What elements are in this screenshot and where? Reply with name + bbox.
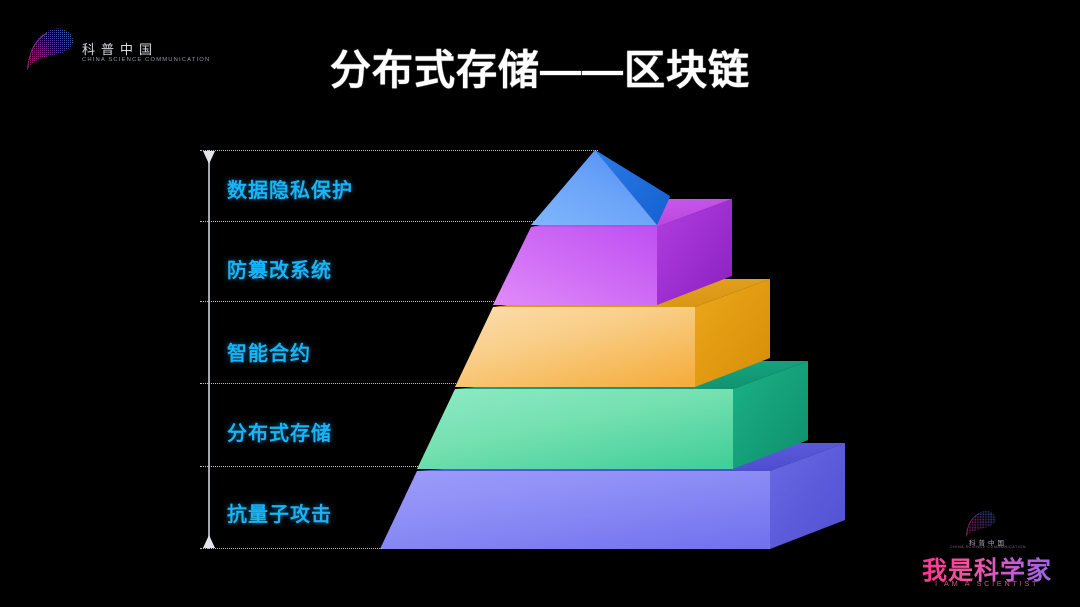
tick-line-0 bbox=[200, 150, 598, 151]
kepu-china-wing-icon bbox=[964, 511, 998, 537]
scale-arrow-2 bbox=[203, 288, 216, 314]
tick-line-2 bbox=[200, 301, 496, 302]
tick-line-3 bbox=[200, 383, 458, 384]
tick-line-1 bbox=[200, 221, 536, 222]
scale-arrow-4 bbox=[203, 453, 216, 479]
tier-label-2: 防篡改系统 bbox=[227, 254, 332, 283]
scale-arrow-1 bbox=[203, 208, 216, 234]
tick-line-5 bbox=[200, 548, 382, 549]
tier-label-3: 智能合约 bbox=[227, 337, 311, 366]
scale-arrow-bottom bbox=[203, 535, 215, 548]
tier-label-1: 数据隐私保护 bbox=[227, 174, 353, 203]
tier-label-5: 抗量子攻击 bbox=[227, 498, 332, 527]
slide-canvas: 科普中国 CHINA SCIENCE COMMUNICATION 分布式存储——… bbox=[0, 0, 1080, 607]
pyramid-tier-1 bbox=[531, 150, 670, 225]
watermark-name-en: CHINA SCIENCE COMMUNICATION bbox=[928, 545, 1048, 549]
tier-label-4: 分布式存储 bbox=[227, 417, 332, 446]
tick-line-4 bbox=[200, 466, 420, 467]
watermark-logo: 科普中国 CHINA SCIENCE COMMUNICATION 我是科学家 I… bbox=[912, 511, 1062, 589]
scale-arrow-top bbox=[203, 151, 215, 164]
watermark-title-en: I AM A SCIENTIST bbox=[912, 579, 1062, 588]
scale-arrow-3 bbox=[203, 370, 216, 396]
